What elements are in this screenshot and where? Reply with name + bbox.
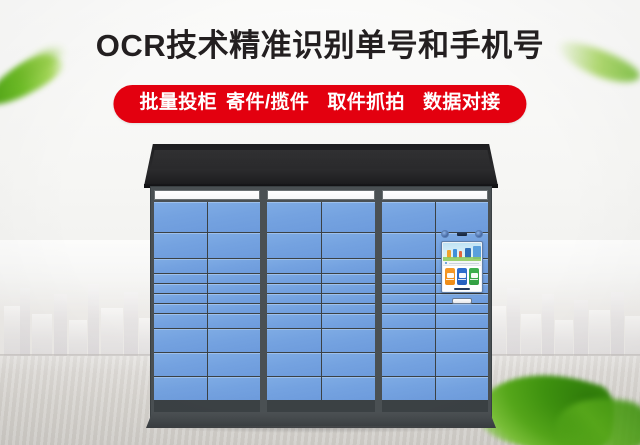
bay-header-panel	[382, 190, 488, 200]
locker-door[interactable]	[382, 233, 435, 258]
screen-footer-bar	[443, 286, 481, 291]
locker-door[interactable]	[322, 233, 376, 258]
locker-door[interactable]	[154, 329, 207, 352]
table-row	[267, 329, 375, 352]
locker-door[interactable]	[208, 233, 261, 258]
table-row	[267, 377, 375, 400]
table-row	[267, 202, 375, 232]
door-grid-middle	[267, 202, 375, 413]
locker-bay-middle	[265, 188, 377, 416]
locker-door[interactable]	[382, 353, 435, 376]
locker-door[interactable]	[267, 377, 321, 400]
locker-door[interactable]	[154, 314, 207, 328]
locker-icon	[471, 273, 478, 278]
sensor-cluster	[441, 230, 483, 238]
locker-door[interactable]	[208, 274, 261, 283]
table-row	[154, 353, 260, 376]
table-row	[267, 259, 375, 273]
locker-door[interactable]	[322, 314, 376, 328]
receipt-slot[interactable]	[452, 298, 472, 304]
box-open-icon	[459, 273, 466, 278]
table-row	[267, 314, 375, 328]
locker-door[interactable]	[208, 202, 261, 232]
locker-door[interactable]	[154, 353, 207, 376]
screen-banner-image	[443, 243, 481, 261]
locker-door[interactable]	[154, 294, 207, 303]
bay-header-panel	[267, 190, 375, 200]
page-title: OCR技术精准识别单号和手机号	[0, 26, 640, 66]
camera-icon-left	[441, 230, 449, 238]
screen-button-pickup[interactable]	[457, 268, 467, 285]
table-row	[154, 329, 260, 352]
ir-sensor-bar-icon	[457, 232, 467, 236]
locker-door[interactable]	[154, 284, 207, 293]
bay-header-panel	[154, 190, 260, 200]
locker-door[interactable]	[382, 259, 435, 273]
locker-door[interactable]	[322, 202, 376, 232]
canopy-awning	[144, 144, 498, 186]
locker-door[interactable]	[267, 284, 321, 293]
locker-door[interactable]	[154, 202, 207, 232]
locker-door[interactable]	[436, 329, 489, 352]
locker-door[interactable]	[154, 304, 207, 313]
locker-door[interactable]	[208, 294, 261, 303]
table-row	[267, 304, 375, 313]
smart-locker-cabinet	[144, 144, 498, 432]
locker-door[interactable]	[322, 329, 376, 352]
table-row	[382, 314, 488, 328]
locker-door[interactable]	[208, 329, 261, 352]
table-row	[382, 329, 488, 352]
locker-door[interactable]	[382, 329, 435, 352]
locker-door[interactable]	[208, 259, 261, 273]
table-row	[154, 274, 260, 283]
screen-action-buttons	[443, 266, 481, 286]
cabinet-ground-shadow	[140, 426, 502, 433]
locker-door[interactable]	[267, 202, 321, 232]
table-row	[154, 314, 260, 328]
table-row	[267, 294, 375, 303]
locker-door[interactable]	[154, 377, 207, 400]
locker-door[interactable]	[154, 233, 207, 258]
locker-door[interactable]	[322, 377, 376, 400]
locker-door[interactable]	[208, 377, 261, 400]
locker-door[interactable]	[322, 274, 376, 283]
poster-canvas: OCR技术精准识别单号和手机号 批量投柜寄件/揽件取件抓拍数据对接	[0, 0, 640, 445]
table-row	[154, 259, 260, 273]
locker-door[interactable]	[382, 202, 435, 232]
locker-door[interactable]	[267, 304, 321, 313]
locker-door[interactable]	[208, 314, 261, 328]
locker-door[interactable]	[267, 259, 321, 273]
table-row	[267, 284, 375, 293]
locker-door[interactable]	[208, 353, 261, 376]
table-row	[154, 294, 260, 303]
table-row	[267, 353, 375, 376]
package-icon	[447, 273, 454, 278]
locker-door[interactable]	[267, 274, 321, 283]
table-row	[382, 202, 488, 232]
feature-item-2: 取件抓拍	[327, 92, 405, 113]
locker-door[interactable]	[382, 284, 435, 293]
locker-door[interactable]	[436, 314, 489, 328]
table-row	[382, 353, 488, 376]
screen-button-send[interactable]	[445, 268, 455, 285]
locker-door[interactable]	[436, 377, 489, 400]
locker-door[interactable]	[382, 314, 435, 328]
feature-item-0: 批量投柜	[139, 92, 217, 113]
locker-door[interactable]	[208, 284, 261, 293]
feature-item-3: 数据对接	[423, 92, 501, 113]
locker-door[interactable]	[322, 353, 376, 376]
locker-door[interactable]	[382, 377, 435, 400]
locker-door[interactable]	[322, 259, 376, 273]
locker-door[interactable]	[154, 259, 207, 273]
locker-door[interactable]	[436, 353, 489, 376]
table-row	[154, 284, 260, 293]
locker-door[interactable]	[267, 353, 321, 376]
screen-button-deposit[interactable]	[469, 268, 479, 285]
table-row	[267, 274, 375, 283]
table-row	[154, 202, 260, 232]
table-row	[154, 377, 260, 400]
locker-door[interactable]	[436, 202, 489, 232]
locker-door[interactable]	[382, 294, 435, 303]
locker-door[interactable]	[154, 274, 207, 283]
feature-banner: 批量投柜寄件/揽件取件抓拍数据对接	[113, 85, 526, 123]
locker-door[interactable]	[322, 294, 376, 303]
table-row	[154, 233, 260, 258]
locker-door[interactable]	[208, 304, 261, 313]
door-grid-left	[154, 202, 260, 413]
locker-door[interactable]	[382, 304, 435, 313]
table-row	[267, 233, 375, 258]
locker-door[interactable]	[267, 314, 321, 328]
locker-door[interactable]	[267, 233, 321, 258]
camera-icon-right	[475, 230, 483, 238]
table-row	[154, 304, 260, 313]
locker-door[interactable]	[322, 284, 376, 293]
locker-door[interactable]	[322, 304, 376, 313]
kiosk-screen[interactable]	[443, 243, 481, 291]
kiosk-screen-bezel	[441, 241, 483, 293]
locker-door[interactable]	[267, 294, 321, 303]
locker-door[interactable]	[267, 329, 321, 352]
table-row	[382, 377, 488, 400]
kiosk-terminal[interactable]	[440, 230, 484, 306]
locker-door[interactable]	[382, 274, 435, 283]
locker-bay-left	[152, 188, 262, 416]
feature-item-1: 寄件/揽件	[226, 92, 309, 113]
